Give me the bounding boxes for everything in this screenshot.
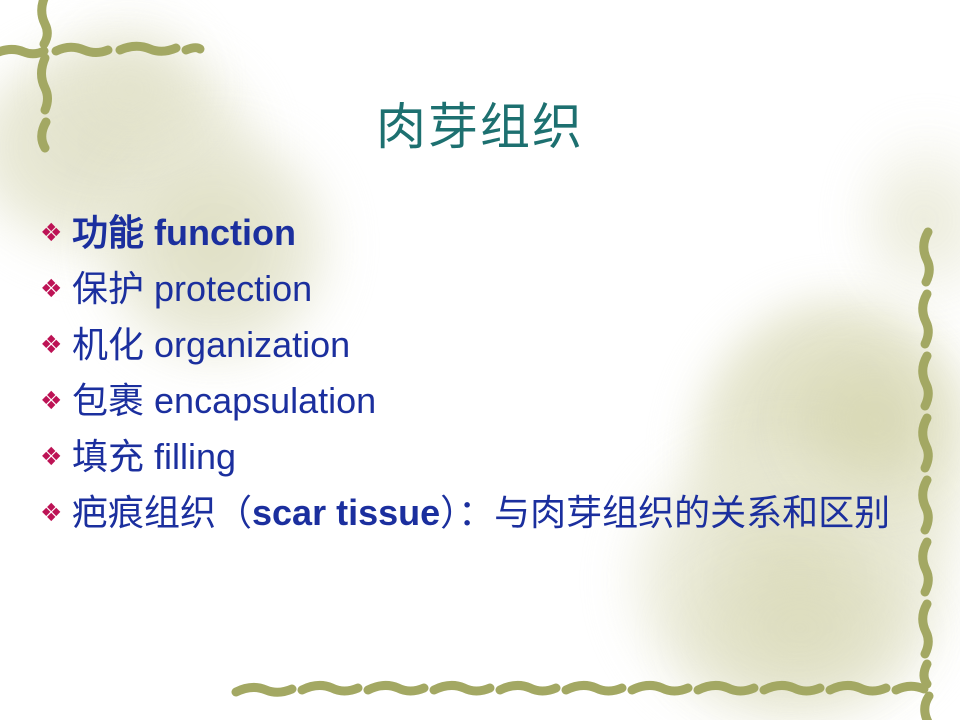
list-item-label-en: encapsulation bbox=[154, 380, 376, 421]
list-item-label-en: function bbox=[154, 212, 296, 253]
scar-tissue-tail: ）： bbox=[440, 493, 494, 534]
list-item-label-en: filling bbox=[154, 436, 236, 477]
slide-title: 肉芽组织 bbox=[0, 96, 960, 158]
list-item[interactable]: ❖ 疤痕组织（scar tissue）：与肉芽组织的关系和区别 bbox=[34, 488, 934, 539]
list-item-label: 保护 protection bbox=[72, 264, 934, 315]
list-item-label-cn: 保护 bbox=[72, 269, 144, 310]
diamond-bullet-icon: ❖ bbox=[34, 320, 72, 370]
list-item-label-cn: 填充 bbox=[72, 437, 144, 478]
diamond-bullet-icon: ❖ bbox=[34, 376, 72, 426]
list-item[interactable]: ❖ 填充 filling bbox=[34, 432, 934, 483]
list-item-label: 功能 function bbox=[72, 208, 934, 259]
diamond-bullet-icon: ❖ bbox=[34, 488, 72, 538]
list-item[interactable]: ❖ 机化 organization bbox=[34, 320, 934, 371]
list-item-label: 包裹 encapsulation bbox=[72, 376, 934, 427]
scar-tissue-rest: 与肉芽组织的关系和区别 bbox=[494, 493, 890, 534]
diamond-bullet-icon: ❖ bbox=[34, 264, 72, 314]
list-item-label-cn: 包裹 bbox=[72, 381, 144, 422]
list-item[interactable]: ❖ 包裹 encapsulation bbox=[34, 376, 934, 427]
scar-tissue-term: scar tissue bbox=[252, 492, 440, 533]
list-item-label-cn: 机化 bbox=[72, 325, 144, 366]
list-item[interactable]: ❖ 保护 protection bbox=[34, 264, 934, 315]
list-item-label-en: organization bbox=[154, 324, 350, 365]
slide-canvas: 肉芽组织 ❖ 功能 function ❖ 保护 protection ❖ 机化 … bbox=[0, 0, 960, 720]
list-item-label: 填充 filling bbox=[72, 432, 934, 483]
watermark-leaf-bottom-right bbox=[660, 560, 940, 720]
list-item[interactable]: ❖ 功能 function bbox=[34, 208, 934, 259]
diamond-bullet-icon: ❖ bbox=[34, 208, 72, 258]
diamond-bullet-icon: ❖ bbox=[34, 432, 72, 482]
bullet-list: ❖ 功能 function ❖ 保护 protection ❖ 机化 organ… bbox=[34, 208, 934, 544]
list-item-label: 机化 organization bbox=[72, 320, 934, 371]
list-item-label-cn: 功能 bbox=[72, 213, 144, 254]
scar-tissue-lead: 疤痕组织（ bbox=[72, 493, 252, 534]
list-item-label-en: protection bbox=[154, 268, 312, 309]
list-item-label: 疤痕组织（scar tissue）：与肉芽组织的关系和区别 bbox=[72, 488, 934, 539]
